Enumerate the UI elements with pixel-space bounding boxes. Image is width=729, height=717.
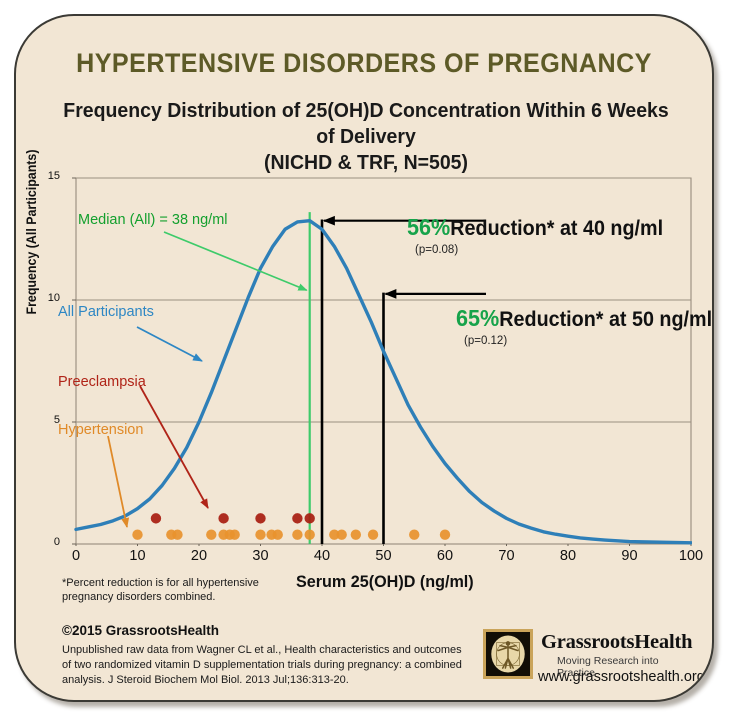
x-tick-60: 60 bbox=[425, 548, 465, 564]
reduction-40-pvalue: (p=0.08) bbox=[415, 244, 679, 256]
logo-url[interactable]: www.grassrootshealth.org bbox=[538, 669, 705, 685]
x-tick-0: 0 bbox=[56, 548, 96, 564]
annotation-preeclampsia: Preeclampsia bbox=[58, 374, 146, 390]
infographic-card: HYPERTENSIVE DISORDERS OF PREGNANCY Freq… bbox=[14, 14, 714, 702]
x-tick-20: 20 bbox=[179, 548, 219, 564]
reduction-50-percent: 65% bbox=[456, 305, 499, 331]
reduction-40-percent: 56% bbox=[407, 214, 450, 240]
annotation-median: Median (All) = 38 ng/ml bbox=[78, 212, 228, 228]
x-tick-50: 50 bbox=[364, 548, 404, 564]
x-tick-40: 40 bbox=[302, 548, 342, 564]
annotation-reduction-50: 65%Reduction* at 50 ng/ml (p=0.12) bbox=[456, 305, 714, 347]
citation: Unpublished raw data from Wagner CL et a… bbox=[62, 643, 472, 688]
reduction-40-text: Reduction* at 40 ng/ml bbox=[450, 217, 663, 240]
annotation-reduction-40: 56%Reduction* at 40 ng/ml (p=0.08) bbox=[407, 214, 679, 256]
footnote: *Percent reduction is for all hypertensi… bbox=[62, 576, 292, 604]
x-tick-90: 90 bbox=[610, 548, 650, 564]
y-tick-15: 15 bbox=[30, 170, 60, 182]
vitruvian-man-icon bbox=[483, 629, 533, 679]
annotation-all-participants: All Participants bbox=[58, 304, 154, 320]
x-tick-80: 80 bbox=[548, 548, 588, 564]
x-tick-70: 70 bbox=[487, 548, 527, 564]
logo-wordmark: GrassrootsHealth bbox=[541, 631, 692, 654]
chart-subtitle-line1: Frequency Distribution of 25(OH)D Concen… bbox=[62, 98, 670, 150]
y-tick-5: 5 bbox=[30, 414, 60, 426]
y-tick-0: 0 bbox=[30, 536, 60, 548]
reduction-50-pvalue: (p=0.12) bbox=[464, 335, 714, 347]
x-axis-title: Serum 25(OH)D (ng/ml) bbox=[296, 572, 474, 592]
annotation-hypertension: Hypertension bbox=[58, 422, 143, 438]
page-title: HYPERTENSIVE DISORDERS OF PREGNANCY bbox=[40, 48, 687, 79]
x-tick-100: 100 bbox=[671, 548, 711, 564]
x-tick-10: 10 bbox=[118, 548, 158, 564]
grassrootshealth-logo: GrassrootsHealth Moving Research into Pr… bbox=[483, 627, 673, 693]
x-tick-30: 30 bbox=[241, 548, 281, 564]
reduction-50-text: Reduction* at 50 ng/ml bbox=[499, 308, 712, 331]
y-tick-10: 10 bbox=[30, 292, 60, 304]
copyright: ©2015 GrassrootsHealth bbox=[62, 623, 219, 638]
